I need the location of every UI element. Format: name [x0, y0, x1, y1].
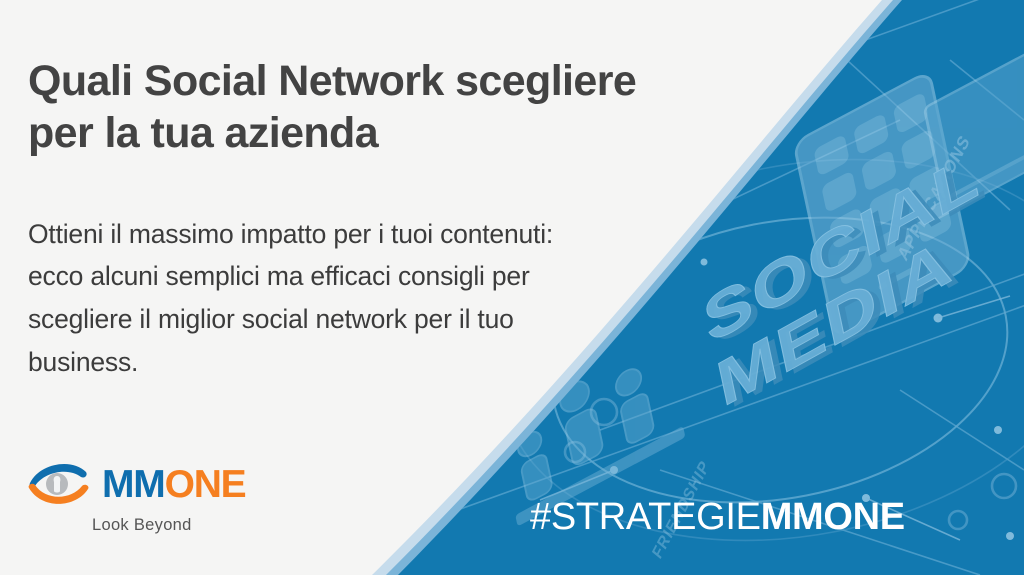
- hashtag-prefix: #STRATEGIE: [530, 496, 761, 538]
- logo-wordmark: MMONE: [102, 465, 246, 504]
- hashtag-suffix: MMONE: [761, 496, 905, 538]
- logo-row: MMONE: [26, 458, 246, 510]
- subtitle-paragraph: Ottieni il massimo impatto per i tuoi co…: [28, 213, 734, 385]
- logo-word-one: ONE: [165, 463, 246, 506]
- campaign-hashtag: #STRATEGIEMMONE: [530, 498, 905, 536]
- logo-word-mm: MM: [102, 463, 165, 506]
- eye-icon: [26, 458, 92, 510]
- page-title: Quali Social Network scegliere per la tu…: [28, 55, 908, 160]
- banner-canvas: APPLICATIONS FRIENDSHIP: [0, 0, 1024, 575]
- brand-logo[interactable]: MMONE Look Beyond: [26, 458, 246, 535]
- logo-tagline: Look Beyond: [92, 516, 192, 535]
